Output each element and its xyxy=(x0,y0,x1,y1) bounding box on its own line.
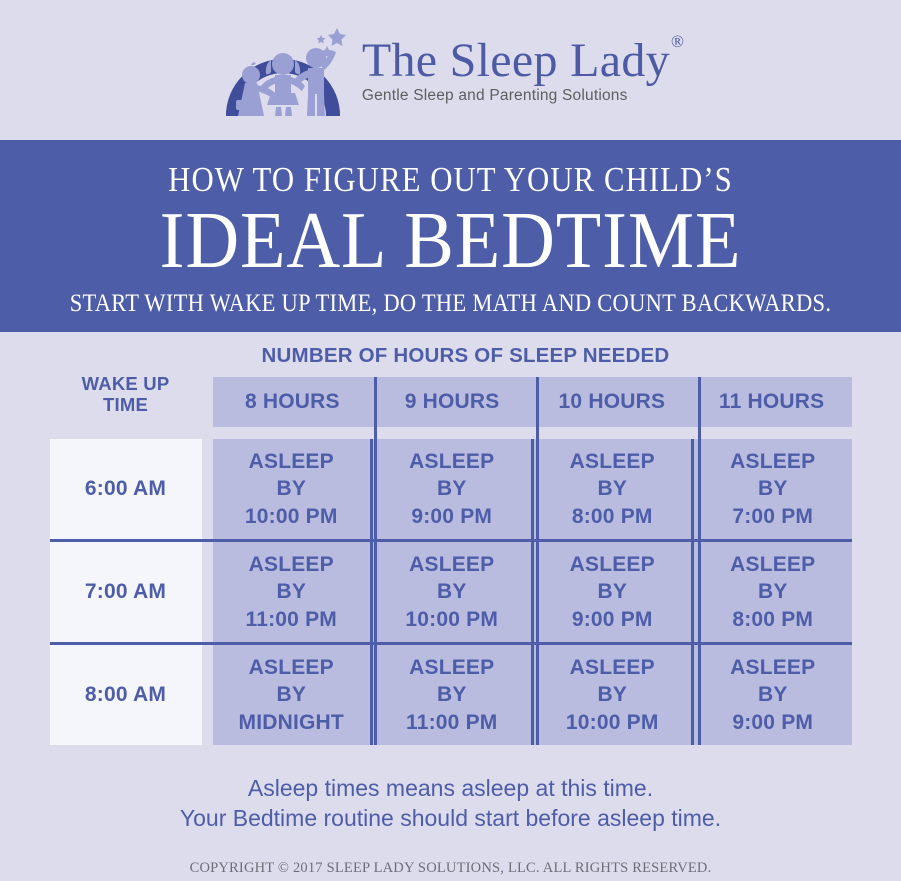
wake-time-cell-8am: 8:00 AM xyxy=(50,645,202,745)
asleep-time: 9:00 PM xyxy=(411,503,492,530)
table-body: 6:00 AM ASLEEP BY 10:00 PM ASLEEP BY 9:0… xyxy=(50,439,852,745)
asleep-label-line2: BY xyxy=(758,475,788,502)
asleep-cell-6am-11h: ASLEEP BY 7:00 PM xyxy=(691,439,852,539)
brand-wordmark: The Sleep Lady® Gentle Sleep and Parenti… xyxy=(362,37,683,106)
banner-headline: IDEAL BEDTIME xyxy=(32,201,870,283)
footer-note: Asleep times means asleep at this time. … xyxy=(0,773,901,834)
asleep-time: 7:00 PM xyxy=(732,503,813,530)
table-row: 8:00 AM ASLEEP BY MIDNIGHT ASLEEP BY 11:… xyxy=(50,642,852,745)
column-header-11-hours: 11 HOURS xyxy=(692,377,852,427)
asleep-cell-8am-11h: ASLEEP BY 9:00 PM xyxy=(691,645,852,745)
asleep-label-line2: BY xyxy=(276,475,306,502)
asleep-time: 8:00 PM xyxy=(732,606,813,633)
asleep-cell-8am-9h: ASLEEP BY 11:00 PM xyxy=(370,645,531,745)
asleep-label-line1: ASLEEP xyxy=(249,654,334,681)
asleep-label-line2: BY xyxy=(276,681,306,708)
asleep-cell-6am-9h: ASLEEP BY 9:00 PM xyxy=(370,439,531,539)
footer-note-line2: Your Bedtime routine should start before… xyxy=(0,803,901,833)
brand-header: The Sleep Lady® Gentle Sleep and Parenti… xyxy=(0,0,901,140)
asleep-time: 10:00 PM xyxy=(566,709,659,736)
column-header-8-hours: 8 HOURS xyxy=(213,377,373,427)
asleep-time: 11:00 PM xyxy=(246,606,338,633)
asleep-label-line1: ASLEEP xyxy=(409,551,494,578)
copyright-notice: COPYRIGHT © 2017 SLEEP LADY SOLUTIONS, L… xyxy=(0,860,901,877)
brand-title: The Sleep Lady® xyxy=(362,37,683,86)
column-divider-2 xyxy=(536,377,539,745)
asleep-cell-6am-8h: ASLEEP BY 10:00 PM xyxy=(213,439,371,539)
header-gap-spacer xyxy=(202,377,213,427)
asleep-label-line2: BY xyxy=(597,578,627,605)
wake-up-time-header: WAKE UP TIME xyxy=(50,369,202,419)
wake-up-time-header-line2: TIME xyxy=(103,394,148,415)
asleep-label-line1: ASLEEP xyxy=(730,448,815,475)
asleep-time: 10:00 PM xyxy=(405,606,498,633)
asleep-time: 9:00 PM xyxy=(572,606,653,633)
brand-tagline: Gentle Sleep and Parenting Solutions xyxy=(362,87,628,105)
bedtime-table: WAKE UP TIME 8 HOURS 9 HOURS 10 HOURS 11… xyxy=(50,377,852,745)
bedtime-table-section: NUMBER OF HOURS OF SLEEP NEEDED WAKE UP … xyxy=(0,332,901,745)
asleep-cell-8am-8h: ASLEEP BY MIDNIGHT xyxy=(213,645,371,745)
table-header-row: WAKE UP TIME 8 HOURS 9 HOURS 10 HOURS 11… xyxy=(50,377,852,427)
footer-note-line1: Asleep times means asleep at this time. xyxy=(0,773,901,803)
banner-eyebrow: HOW TO FIGURE OUT YOUR CHILD’S xyxy=(54,162,847,199)
asleep-label-line1: ASLEEP xyxy=(249,448,334,475)
wake-up-time-header-line1: WAKE UP xyxy=(82,373,170,394)
registered-mark-icon: ® xyxy=(671,32,684,51)
asleep-label-line1: ASLEEP xyxy=(409,654,494,681)
banner-subhead: START WITH WAKE UP TIME, DO THE MATH AND… xyxy=(45,290,856,318)
row-data-cells: ASLEEP BY 11:00 PM ASLEEP BY 10:00 PM AS… xyxy=(213,542,852,642)
table-row: 6:00 AM ASLEEP BY 10:00 PM ASLEEP BY 9:0… xyxy=(50,439,852,539)
asleep-label-line1: ASLEEP xyxy=(249,551,334,578)
row-data-cells: ASLEEP BY MIDNIGHT ASLEEP BY 11:00 PM AS… xyxy=(213,645,852,745)
asleep-label-line2: BY xyxy=(597,475,627,502)
asleep-cell-7am-11h: ASLEEP BY 8:00 PM xyxy=(691,542,852,642)
wake-time-cell-6am: 6:00 AM xyxy=(50,439,202,539)
asleep-label-line2: BY xyxy=(758,578,788,605)
column-divider-1 xyxy=(374,377,377,745)
asleep-label-line2: BY xyxy=(276,578,306,605)
asleep-cell-7am-8h: ASLEEP BY 11:00 PM xyxy=(213,542,371,642)
asleep-time: MIDNIGHT xyxy=(239,709,344,736)
asleep-cell-8am-10h: ASLEEP BY 10:00 PM xyxy=(531,645,692,745)
asleep-cell-7am-9h: ASLEEP BY 10:00 PM xyxy=(370,542,531,642)
asleep-label-line2: BY xyxy=(437,681,467,708)
family-under-arc-with-stars-icon xyxy=(218,22,348,118)
row-gap-spacer xyxy=(202,439,213,539)
table-row: 7:00 AM ASLEEP BY 11:00 PM ASLEEP BY 10:… xyxy=(50,539,852,642)
hours-column-headers: 8 HOURS 9 HOURS 10 HOURS 11 HOURS xyxy=(213,377,852,427)
section-title: NUMBER OF HOURS OF SLEEP NEEDED xyxy=(0,344,901,368)
asleep-label-line1: ASLEEP xyxy=(570,448,655,475)
row-gap-spacer xyxy=(202,542,213,642)
asleep-label-line1: ASLEEP xyxy=(730,654,815,681)
wake-time-cell-7am: 7:00 AM xyxy=(50,542,202,642)
asleep-label-line1: ASLEEP xyxy=(570,551,655,578)
asleep-label-line2: BY xyxy=(437,578,467,605)
column-header-9-hours: 9 HOURS xyxy=(372,377,532,427)
asleep-label-line1: ASLEEP xyxy=(570,654,655,681)
row-gap-spacer xyxy=(202,645,213,745)
row-data-cells: ASLEEP BY 10:00 PM ASLEEP BY 9:00 PM ASL… xyxy=(213,439,852,539)
column-divider-3 xyxy=(698,377,701,745)
asleep-cell-7am-10h: ASLEEP BY 9:00 PM xyxy=(531,542,692,642)
asleep-time: 11:00 PM xyxy=(406,709,498,736)
asleep-time: 9:00 PM xyxy=(732,709,813,736)
asleep-label-line1: ASLEEP xyxy=(730,551,815,578)
asleep-label-line2: BY xyxy=(758,681,788,708)
asleep-label-line1: ASLEEP xyxy=(409,448,494,475)
asleep-label-line2: BY xyxy=(437,475,467,502)
asleep-cell-6am-10h: ASLEEP BY 8:00 PM xyxy=(531,439,692,539)
asleep-time: 10:00 PM xyxy=(245,503,338,530)
column-header-10-hours: 10 HOURS xyxy=(532,377,692,427)
title-banner: HOW TO FIGURE OUT YOUR CHILD’S IDEAL BED… xyxy=(0,140,901,332)
asleep-time: 8:00 PM xyxy=(572,503,653,530)
brand-title-text: The Sleep Lady xyxy=(362,34,670,87)
asleep-label-line2: BY xyxy=(597,681,627,708)
